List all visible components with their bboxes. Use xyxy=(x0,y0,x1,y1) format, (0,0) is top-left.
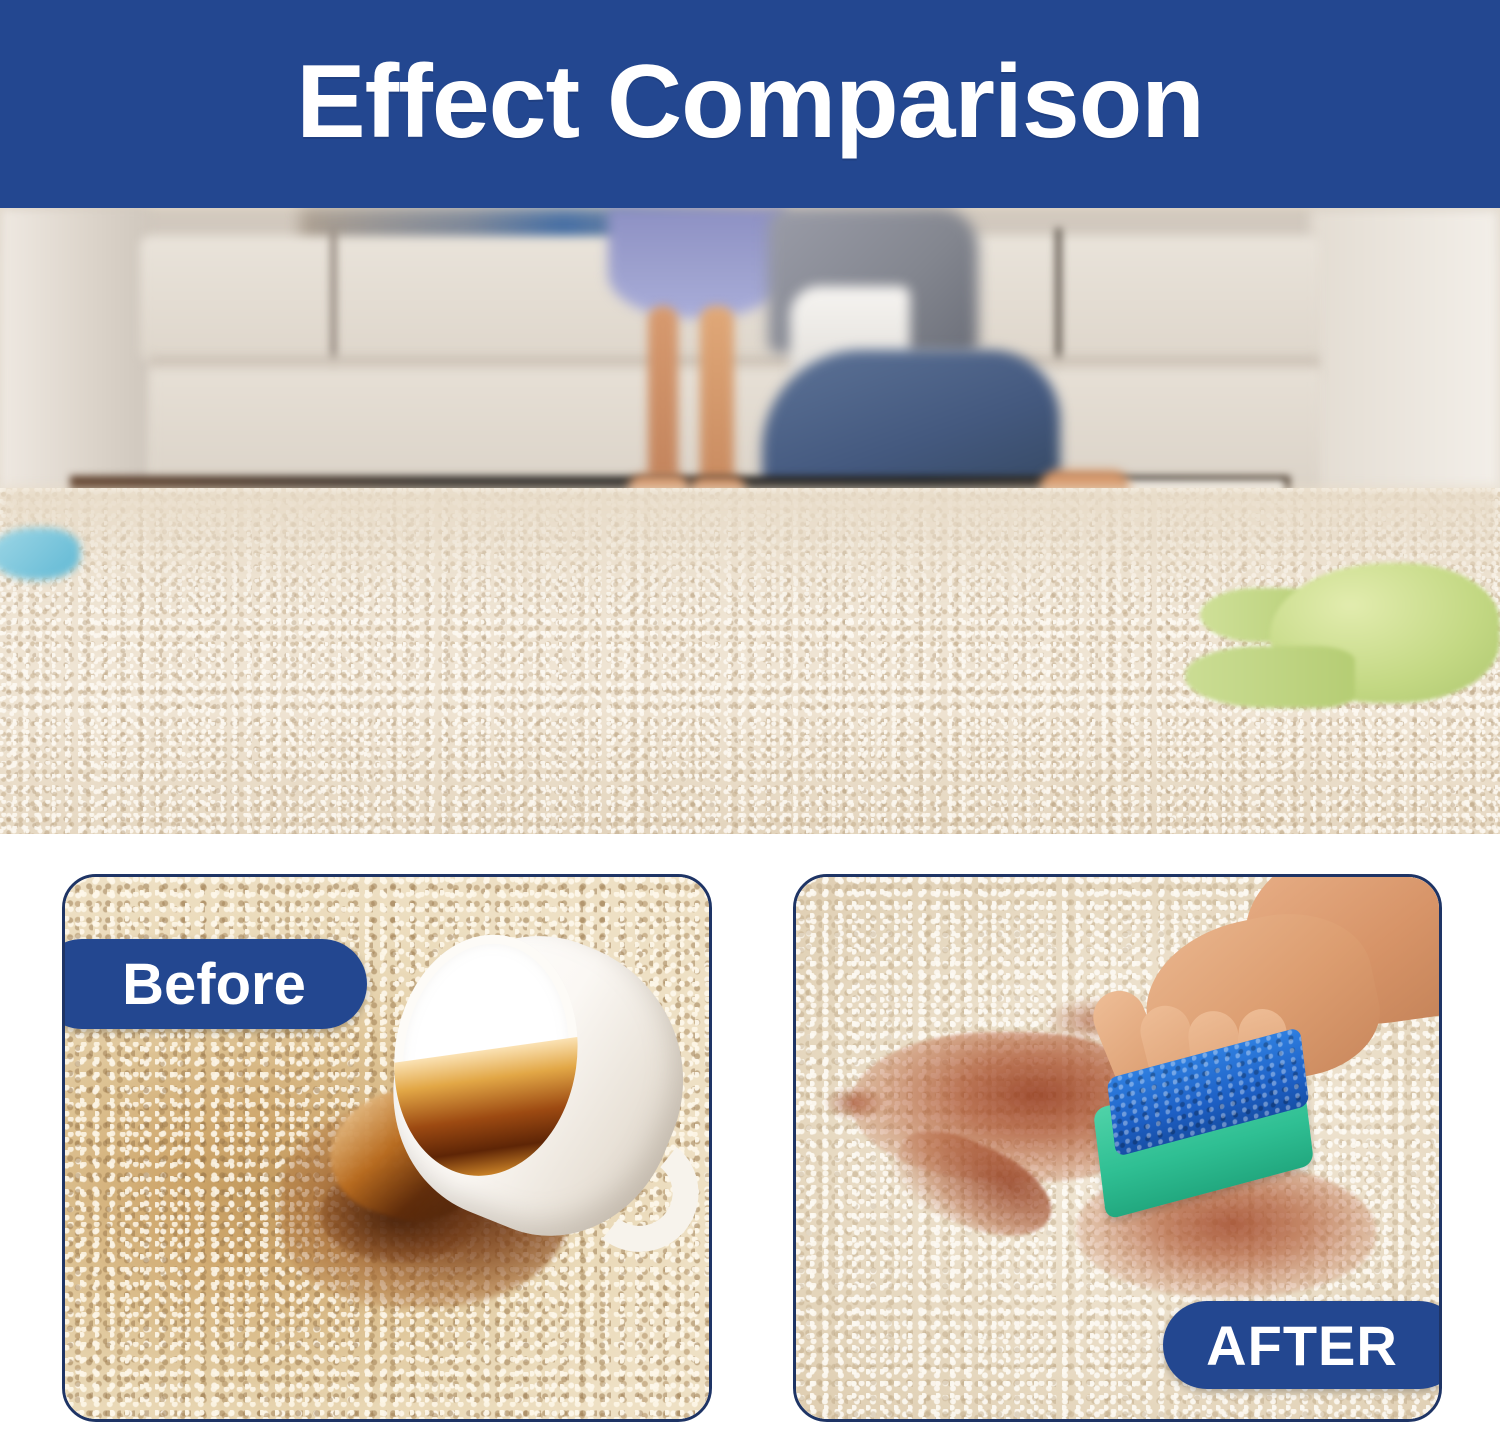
child-dress xyxy=(608,208,786,318)
hero-lifestyle-photo xyxy=(0,208,1500,834)
blue-toy xyxy=(0,528,80,580)
effect-comparison-page: Effect Comparison xyxy=(0,0,1500,1442)
window-right xyxy=(1310,208,1500,508)
child-leg-left xyxy=(648,306,678,491)
sofa-seam-right xyxy=(1055,228,1062,368)
wall-left xyxy=(0,208,150,508)
before-badge: Before xyxy=(62,939,367,1029)
before-card[interactable]: Before xyxy=(62,874,712,1422)
page-title: Effect Comparison xyxy=(296,50,1204,154)
mug-liquid xyxy=(379,1035,593,1188)
comparison-row: Before AFTER xyxy=(0,834,1500,1442)
after-card[interactable]: AFTER xyxy=(793,874,1442,1422)
header-banner: Effect Comparison xyxy=(0,0,1500,208)
child-leg-right xyxy=(700,306,734,491)
before-badge-label: Before xyxy=(122,951,306,1018)
after-badge: AFTER xyxy=(1163,1301,1442,1389)
after-badge-label: AFTER xyxy=(1206,1313,1398,1378)
sofa-seam-left xyxy=(330,228,337,368)
green-toy-foot xyxy=(1185,646,1355,708)
